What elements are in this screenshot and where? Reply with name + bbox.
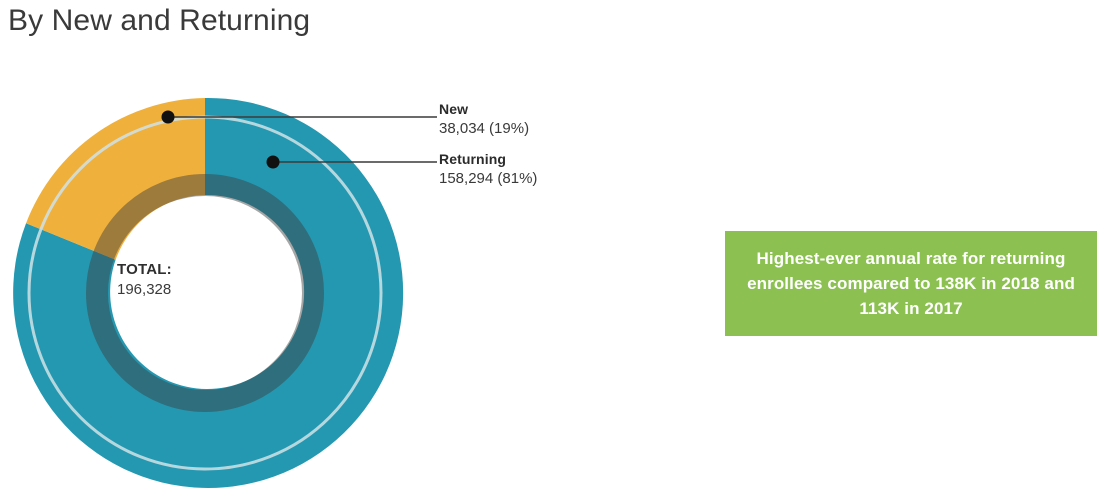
callout-new-name: New (439, 101, 529, 119)
callout-new: New 38,034 (19%) (439, 101, 529, 138)
total-label: TOTAL: (117, 260, 172, 280)
page-title: By New and Returning (8, 4, 310, 38)
donut-center-total: TOTAL: 196,328 (117, 260, 172, 300)
callout-returning-name: Returning (439, 151, 537, 169)
leader-dot-returning (267, 156, 280, 169)
leader-dot-new (162, 111, 175, 124)
callout-returning-value: 158,294 (81%) (439, 169, 537, 188)
highlight-callout-box: Highest-ever annual rate for returning e… (725, 231, 1097, 336)
callout-new-value: 38,034 (19%) (439, 119, 529, 138)
highlight-callout-text: Highest-ever annual rate for returning e… (739, 247, 1083, 321)
callout-returning: Returning 158,294 (81%) (439, 151, 537, 188)
total-value: 196,328 (117, 280, 172, 300)
